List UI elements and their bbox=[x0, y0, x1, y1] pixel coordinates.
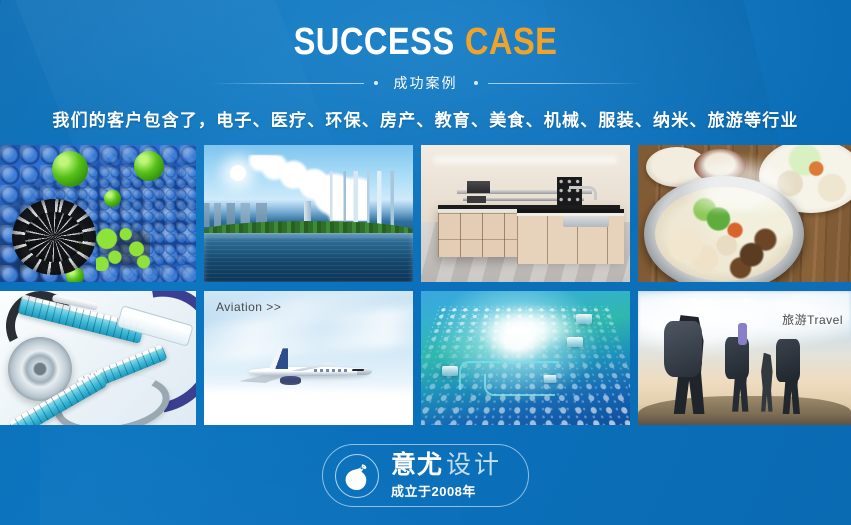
fullerene-icon bbox=[12, 199, 96, 275]
lab-sink bbox=[563, 216, 609, 227]
travel-image: 旅游Travel bbox=[638, 291, 851, 425]
backpack bbox=[664, 321, 702, 377]
aviation-image: Aviation >> bbox=[204, 291, 413, 425]
airplane-tail bbox=[262, 348, 288, 369]
green-molecule bbox=[52, 151, 88, 187]
logo-mark-icon bbox=[335, 454, 379, 498]
success-case-banner: SUCCESSCASE 成功案例 我们的客户包含了，电子、医疗、环保、房产、教育… bbox=[0, 0, 851, 525]
green-molecule bbox=[104, 190, 121, 207]
title-divider: 成功案例 bbox=[0, 74, 851, 92]
cuisine-image bbox=[638, 145, 851, 282]
gallery-tile-electronics[interactable] bbox=[421, 291, 630, 425]
lab-equipment-box bbox=[467, 181, 490, 193]
laboratory-image bbox=[421, 145, 630, 282]
medical-image bbox=[0, 291, 196, 425]
electronics-image bbox=[421, 291, 630, 425]
divider-dot-right bbox=[474, 81, 478, 85]
particle-spray bbox=[96, 225, 150, 271]
environment-image bbox=[204, 145, 413, 282]
subtitle: 成功案例 bbox=[388, 73, 464, 93]
gallery-tile-aviation[interactable]: Aviation >> bbox=[204, 291, 413, 425]
steam bbox=[678, 153, 798, 211]
cumulus-clouds bbox=[204, 379, 413, 425]
nanotechnology-image bbox=[0, 145, 196, 282]
chip-icon bbox=[544, 375, 557, 383]
green-molecule bbox=[134, 151, 164, 181]
logo-established: 成立于2008年 bbox=[391, 485, 476, 498]
tile-caption-travel: 旅游Travel bbox=[782, 311, 843, 328]
banner-header: SUCCESSCASE 成功案例 我们的客户包含了，电子、医疗、环保、房产、教育… bbox=[0, 0, 851, 131]
logo-text: 意尤 设计 成立于2008年 bbox=[391, 453, 502, 498]
sleeping-mat bbox=[738, 323, 747, 344]
case-gallery: Aviation >> bbox=[3, 145, 848, 425]
logo-pill[interactable]: 意尤 设计 成立于2008年 bbox=[322, 444, 529, 507]
light-glow bbox=[471, 304, 580, 352]
title-accent: CASE bbox=[465, 21, 558, 63]
brand-logo[interactable]: 意尤 设计 成立于2008年 bbox=[0, 444, 851, 507]
gallery-tile-travel[interactable]: 旅游Travel bbox=[638, 291, 851, 425]
tile-caption-aviation: Aviation >> bbox=[216, 300, 281, 314]
gallery-tile-environment[interactable] bbox=[204, 145, 413, 282]
divider-line-right bbox=[488, 83, 642, 84]
airplane-livery-text bbox=[314, 369, 348, 372]
factory-plant bbox=[325, 171, 409, 227]
logo-name-bold: 意尤 bbox=[391, 453, 443, 478]
water-surface bbox=[204, 233, 413, 282]
lab-faucet-icon bbox=[569, 186, 596, 200]
logo-name-row: 意尤 设计 bbox=[391, 453, 502, 478]
sun-icon bbox=[230, 165, 246, 181]
gallery-tile-laboratory[interactable] bbox=[421, 145, 630, 282]
page-title: SUCCESSCASE bbox=[60, 22, 792, 62]
logo-name-thin: 设计 bbox=[446, 453, 502, 478]
gallery-tile-nanotechnology[interactable] bbox=[0, 145, 196, 282]
divider-dot-left bbox=[374, 81, 378, 85]
backpack bbox=[776, 339, 799, 382]
lab-equipment-box bbox=[467, 196, 486, 203]
gallery-tile-medical[interactable] bbox=[0, 291, 196, 425]
tagline: 我们的客户包含了，电子、医疗、环保、房产、教育、美食、机械、服装、纳米、旅游等行… bbox=[0, 106, 851, 131]
gallery-tile-cuisine[interactable] bbox=[638, 145, 851, 282]
chip-icon bbox=[442, 366, 458, 376]
title-primary: SUCCESS bbox=[294, 21, 455, 63]
divider-line-left bbox=[210, 83, 364, 84]
